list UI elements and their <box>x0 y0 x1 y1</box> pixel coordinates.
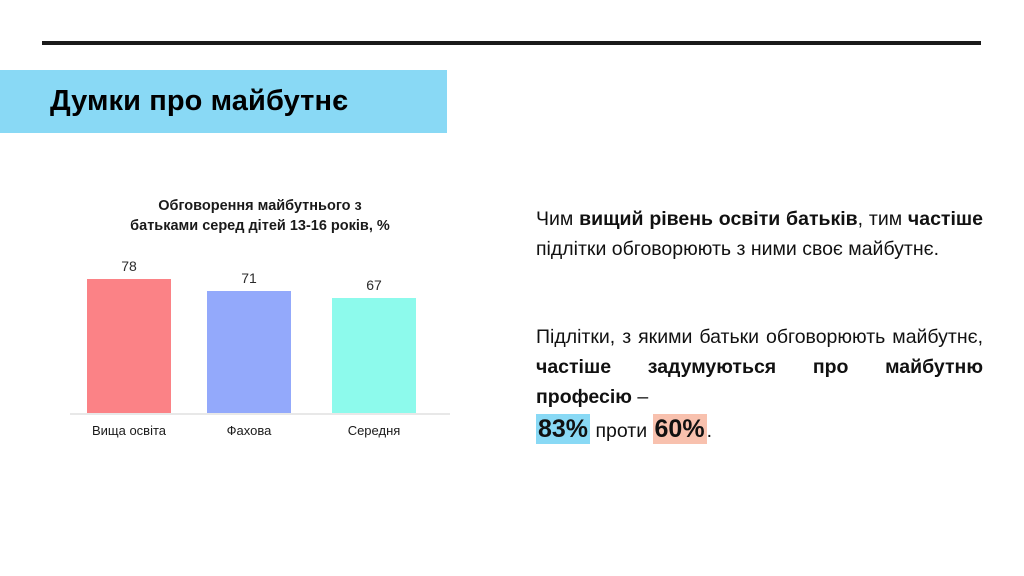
paragraph-insight-1: Чим вищий рівень освіти батьків, тим час… <box>536 204 983 264</box>
p1-segment-plain-2: , тим <box>858 208 908 230</box>
p2-segment-dash: – <box>632 386 648 408</box>
p1-segment-bold-2: частіше <box>908 208 983 230</box>
text-column: Чим вищий рівень освіти батьків, тим час… <box>536 204 983 446</box>
p2-segment-plain: Підлітки, з якими батьки обговорюють май… <box>536 326 983 348</box>
bar-category-label: Вища освіта <box>71 413 187 438</box>
bar-value-label: 67 <box>332 277 416 293</box>
stat-between-word: проти <box>590 420 652 442</box>
bar-rect[interactable] <box>87 279 171 413</box>
page-title: Думки про майбутнє <box>50 70 348 133</box>
stat-badge-83: 83% <box>536 414 590 444</box>
p1-segment-plain: Чим <box>536 208 579 230</box>
chart-title: Обговорення майбутнього з батьками серед… <box>60 196 460 236</box>
bar-rect[interactable] <box>207 291 291 413</box>
bar-value-label: 78 <box>87 258 171 274</box>
p2-segment-bold: частіше задумуються про майбутню професі… <box>536 356 983 408</box>
bar-category-label: Середня <box>316 413 432 438</box>
bar-value-label: 71 <box>207 270 291 286</box>
paragraph-insight-2: Підлітки, з якими батьки обговорюють май… <box>536 322 983 446</box>
stat-period: . <box>707 420 712 442</box>
p1-segment-bold-1: вищий рівень освіти батьків <box>579 208 858 230</box>
slide-root: { "slide": { "title": "Думки про майбутн… <box>0 0 1024 576</box>
bar-rect[interactable] <box>332 298 416 413</box>
stat-badge-60: 60% <box>653 414 707 444</box>
chart-plot-area: 78 Вища освіта 71 Фахова 67 Середня <box>60 258 460 453</box>
bar-chart: Обговорення майбутнього з батьками серед… <box>60 196 460 486</box>
header-rule <box>42 41 981 45</box>
bar-category-label: Фахова <box>191 413 307 438</box>
stat-comparison-line: 83% проти 60%. <box>536 414 983 446</box>
p1-segment-plain-3: підлітки обговорюють з ними своє майбутн… <box>536 238 939 260</box>
chart-title-line-2: батьками серед дітей 13-16 років, % <box>60 216 460 236</box>
chart-title-line-1: Обговорення майбутнього з <box>60 196 460 216</box>
